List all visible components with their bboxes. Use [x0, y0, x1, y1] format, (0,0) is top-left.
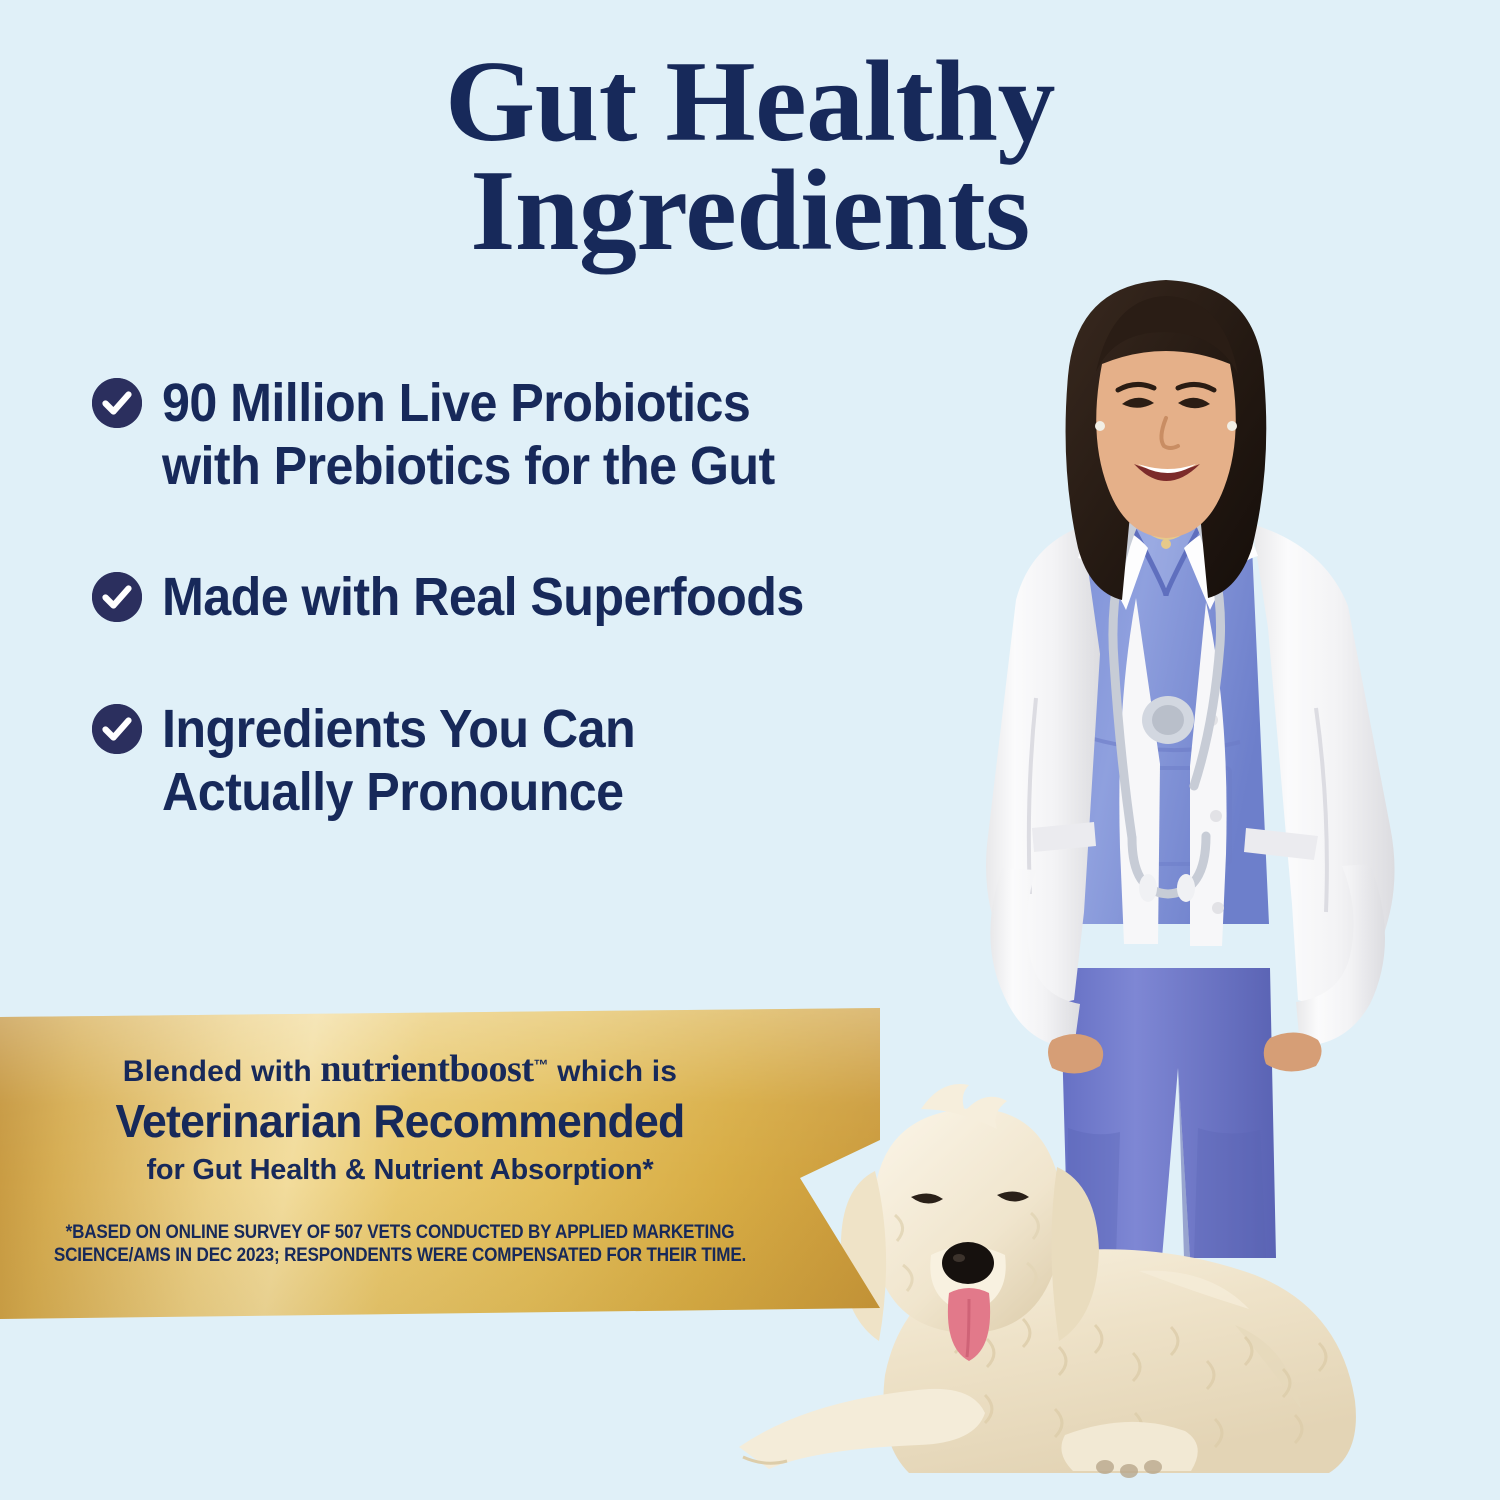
ribbon-prefix-line: Blended with nutrientboost™ which is: [0, 1050, 800, 1090]
check-circle-icon: [92, 572, 142, 622]
ribbon-suffix-text: which is: [549, 1055, 678, 1088]
survey-disclaimer: *BASED ON ONLINE SURVEY OF 507 VETS COND…: [40, 1221, 760, 1267]
benefit-text: 90 Million Live Probiotics with Prebioti…: [162, 372, 775, 498]
list-item: 90 Million Live Probiotics with Prebioti…: [92, 372, 972, 498]
page-title: Gut Healthy Ingredients: [0, 48, 1500, 266]
ribbon-headline: Veterinarian Recommended: [12, 1094, 788, 1148]
ribbon-content: Blended with nutrientboost™ which is Vet…: [0, 1008, 800, 1328]
list-item: Made with Real Superfoods: [92, 566, 972, 629]
trademark-symbol: ™: [533, 1057, 548, 1074]
ribbon-prefix-text: Blended with: [123, 1055, 321, 1088]
benefits-list: 90 Million Live Probiotics with Prebioti…: [92, 372, 972, 824]
ribbon-subline: for Gut Health & Nutrient Absorption*: [0, 1154, 800, 1187]
list-item: Ingredients You Can Actually Pronounce: [92, 698, 972, 824]
check-circle-icon: [92, 378, 142, 428]
check-circle-icon: [92, 704, 142, 754]
veterinarian-recommended-banner: Blended with nutrientboost™ which is Vet…: [0, 1008, 880, 1328]
promo-canvas: Gut Healthy Ingredients 90 Million Live …: [0, 0, 1500, 1500]
page-title-line-2: Ingredients: [0, 157, 1500, 266]
nutrientboost-logo: nutrientboost: [320, 1048, 533, 1090]
benefit-text: Made with Real Superfoods: [162, 566, 804, 629]
benefit-text: Ingredients You Can Actually Pronounce: [162, 698, 635, 824]
